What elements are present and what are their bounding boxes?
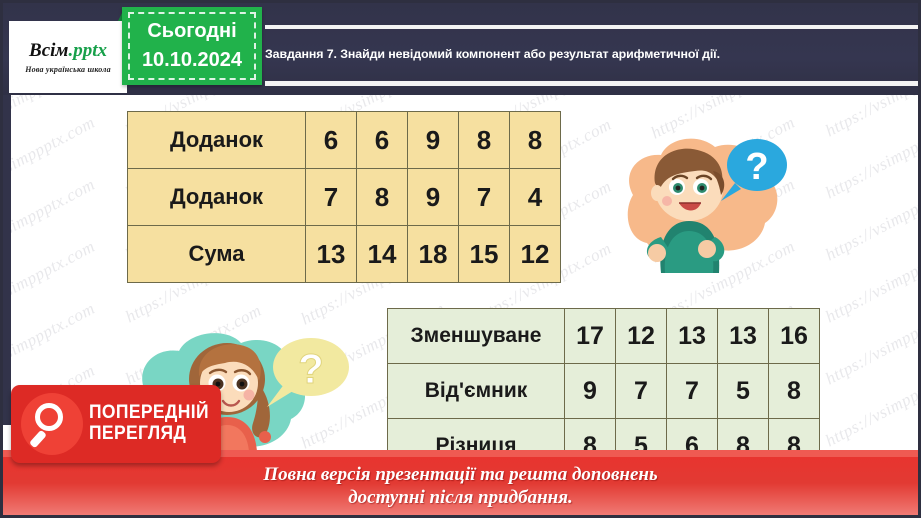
cell: 7 <box>616 364 667 419</box>
watermark-text: https://vsimppptx.com <box>3 237 98 330</box>
cell: 16 <box>769 309 820 364</box>
table-row: Доданок 7 8 9 7 4 <box>128 169 561 226</box>
cell: 7 <box>459 169 510 226</box>
cell: 4 <box>510 169 561 226</box>
cell: 13 <box>718 309 769 364</box>
cell: 12 <box>510 226 561 283</box>
cell: 8 <box>510 112 561 169</box>
cell: 7 <box>667 364 718 419</box>
purchase-banner: Повна версія презентації та решта доповн… <box>3 457 918 515</box>
banner-line-1: Повна версія презентації та решта доповн… <box>263 463 657 486</box>
row-label: Зменшуване <box>388 309 565 364</box>
preview-line-2: ПЕРЕГЛЯД <box>89 424 209 445</box>
row-label: Сума <box>128 226 306 283</box>
logo[interactable]: Всім.pptx Нова українська школа <box>9 21 127 93</box>
cell: 13 <box>306 226 357 283</box>
watermark-text: https://vsimpptx.com <box>822 301 918 390</box>
magnifier-handle <box>29 430 47 449</box>
watermark-text: https://vsimpptx.com <box>822 115 918 204</box>
cell: 8 <box>459 112 510 169</box>
subtraction-table-body: Зменшуване 17 12 13 13 16 Від'ємник 9 7 … <box>388 309 820 474</box>
watermark-text: https://vsimppptx.com <box>3 175 98 268</box>
header-strip-top <box>265 25 918 29</box>
table-row: Зменшуване 17 12 13 13 16 <box>388 309 820 364</box>
date-label: Сьогодні <box>147 17 236 46</box>
magnifier-ring <box>35 403 63 431</box>
cell: 12 <box>616 309 667 364</box>
preview-badge[interactable]: ПОПЕРЕДНІЙ ПЕРЕГЛЯД <box>11 385 221 463</box>
row-label: Доданок <box>128 112 306 169</box>
magnifier-icon <box>21 393 83 455</box>
cell: 17 <box>565 309 616 364</box>
page-title: Завдання 7. Знайди невідомий компонент а… <box>265 31 908 77</box>
watermark-text: https://vsimpptx.com <box>822 239 918 328</box>
svg-text:?: ? <box>745 146 768 188</box>
left-edge-strip <box>3 95 11 425</box>
cell: 9 <box>408 112 459 169</box>
page-title-text: Завдання 7. Знайди невідомий компонент а… <box>265 47 720 61</box>
table-row: Доданок 6 6 9 8 8 <box>128 112 561 169</box>
header-strip-bottom <box>265 81 918 86</box>
watermark-text: https://vsimpptx.com <box>822 177 918 266</box>
boy-thinking-icon: ? <box>603 125 803 275</box>
row-label: Від'ємник <box>388 364 565 419</box>
row-label: Доданок <box>128 169 306 226</box>
cell: 9 <box>408 169 459 226</box>
watermark-text: https://vsimppptx.com <box>3 299 98 392</box>
logo-brand-accent: .pptx <box>68 40 107 61</box>
table-row: Сума 13 14 18 15 12 <box>128 226 561 283</box>
cell: 14 <box>357 226 408 283</box>
cell: 8 <box>769 364 820 419</box>
logo-subtitle: Нова українська школа <box>25 65 111 74</box>
cell: 15 <box>459 226 510 283</box>
cell: 8 <box>357 169 408 226</box>
watermark-text: https://vsimppptx.com <box>3 113 98 206</box>
logo-brand: Всім <box>29 40 68 61</box>
date-value: 10.10.2024 <box>142 46 242 75</box>
cell: 13 <box>667 309 718 364</box>
slide: https://vsimppptx.comhttps://vsimpptx.co… <box>0 0 921 518</box>
svg-text:?: ? <box>298 345 324 392</box>
preview-badge-text: ПОПЕРЕДНІЙ ПЕРЕГЛЯД <box>89 403 219 444</box>
watermark-text: https://vsimpptx.com <box>822 363 918 452</box>
cell: 18 <box>408 226 459 283</box>
cell: 6 <box>357 112 408 169</box>
date-badge: Сьогодні 10.10.2024 <box>122 7 262 85</box>
cell: 7 <box>306 169 357 226</box>
cell: 5 <box>718 364 769 419</box>
banner-line-2: доступні після придбання. <box>348 486 572 509</box>
cell: 6 <box>306 112 357 169</box>
addition-table-body: Доданок 6 6 9 8 8 Доданок 7 8 9 7 4 Сума… <box>128 112 561 283</box>
preview-line-1: ПОПЕРЕДНІЙ <box>89 403 209 424</box>
cell: 9 <box>565 364 616 419</box>
table-row: Від'ємник 9 7 7 5 8 <box>388 364 820 419</box>
logo-main-text: Всім.pptx <box>29 41 107 60</box>
addition-table: Доданок 6 6 9 8 8 Доданок 7 8 9 7 4 Сума… <box>127 111 561 283</box>
